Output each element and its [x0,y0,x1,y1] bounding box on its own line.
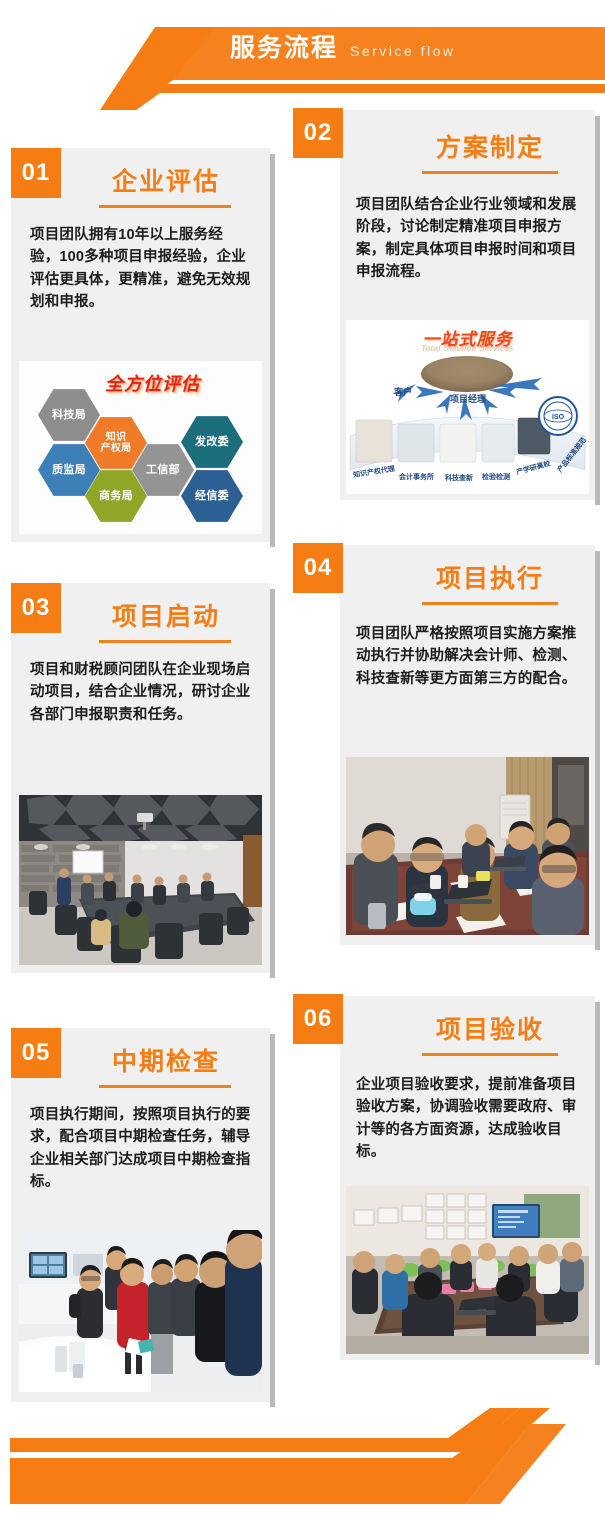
hex-node-label: 知识产权局 [101,432,132,454]
card-05-title: 中期检查 [71,1042,261,1078]
onestop-figure: 一站式服务 Total Solution Services [346,320,589,494]
header-title-group: 服务流程 Service flow [230,36,455,61]
hex-figure-title: 全方位评估 [105,370,200,396]
card-02-number: 02 [304,119,333,147]
card-05-badge: 05 [11,1028,61,1078]
card-04-title-rule [422,602,558,605]
onestop-label-pm: 项目经理 [450,392,486,405]
hex-node-label: 工信部 [146,464,180,476]
header-banner: 服务流程 Service flow [0,0,605,110]
card-03-body: 项目和财税顾问团队在企业现场启动项目，结合企业情况，研讨企业各部门申报职责和任务… [30,659,252,726]
card-01-title-rule [99,205,231,208]
service-flow-page: 服务流程 Service flow 01 企业评估 项目团队拥有10年以上服务经… [0,0,605,1538]
card-04-number: 04 [304,554,333,582]
card-02-badge: 02 [293,108,343,158]
card-01-title: 企业评估 [71,162,261,198]
card-06-title-rule [422,1053,558,1056]
onestop-label-testing: 检验检测 [482,472,510,482]
footer-banner-shape [0,1380,605,1538]
card-01-body: 项目团队拥有10年以上服务经验，100多种项目申报经验，企业评估更具体，更精准，… [30,224,252,314]
hex-node-fagai: 发改委 [181,415,243,469]
header-title-cn: 服务流程 [230,36,338,61]
card-02-body: 项目团队结合企业行业领域和发展阶段，讨论制定精准项目申报方案，制定具体项目申报时… [356,194,580,284]
header-title-en: Service flow [350,44,455,58]
onestop-label-account: 会计事务所 [399,472,434,482]
card-03-title-rule [99,640,231,643]
photo-boardroom-presentation [346,1186,589,1354]
card-01-badge: 01 [11,148,61,198]
card-05[interactable]: 05 中期检查 项目执行期间，按照项目执行的要求，配合项目中期检查任务，辅导企业… [11,1028,270,1402]
hex-node-label: 经信委 [195,490,229,502]
photo-team-working [346,757,589,935]
hex-figure: 全方位评估 科技局 知识产权局 质监局 工信部 商务局 发改委 经信委 [19,361,262,534]
card-04-title: 项目执行 [395,559,585,595]
card-06-title: 项目验收 [395,1010,585,1046]
footer-banner: 全国统一热线： 400-150-1560 [0,1380,605,1538]
card-05-number: 05 [22,1039,51,1067]
photo-conference-room-art [19,795,262,965]
photo-boardroom-presentation-art [346,1186,589,1354]
card-02-title-rule [422,171,558,174]
card-01[interactable]: 01 企业评估 项目团队拥有10年以上服务经验，100多种项目申报经验，企业评估… [11,148,270,542]
card-04[interactable]: 04 项目执行 项目团队严格按照项目实施方案推动执行并协助解决会计师、检测、科技… [340,545,595,945]
photo-conference-room [19,795,262,965]
hex-node-label: 质监局 [52,464,86,476]
card-04-badge: 04 [293,543,343,593]
card-06-badge: 06 [293,994,343,1044]
photo-showroom-visit-art [19,1230,262,1392]
hex-node-label: 发改委 [195,436,229,448]
hex-node-label: 商务局 [99,490,133,502]
hex-node-label: 科技局 [52,409,86,421]
card-05-body: 项目执行期间，按照项目执行的要求，配合项目中期检查任务，辅导企业相关部门达成项目… [30,1104,252,1194]
photo-showroom-visit [19,1230,262,1392]
onestop-label-novelty: 科技查新 [445,473,473,483]
hex-node-jingxin: 经信委 [181,469,243,523]
card-03-badge: 03 [11,583,61,633]
card-01-number: 01 [22,159,51,187]
card-04-body: 项目团队严格按照项目实施方案推动执行并协助解决会计师、检测、科技查新等更方面第三… [356,623,580,690]
card-03-number: 03 [22,594,51,622]
card-06[interactable]: 06 项目验收 企业项目验收要求，提前准备项目验收方案，协调验收需要政府、审计等… [340,996,595,1360]
card-06-body: 企业项目验收要求，提前准备项目验收方案，协调验收需要政府、审计等的各方面资源，达… [356,1074,580,1164]
card-05-title-rule [99,1085,231,1088]
card-03[interactable]: 03 项目启动 项目和财税顾问团队在企业现场启动项目，结合企业情况，研讨企业各部… [11,583,270,973]
onestop-label-kehu: 客户 [394,385,412,398]
card-03-title: 项目启动 [71,597,261,633]
svg-text:ISO: ISO [552,414,565,421]
photo-team-working-art [346,757,589,935]
card-02-title: 方案制定 [395,128,585,164]
card-06-number: 06 [304,1005,333,1033]
card-02[interactable]: 02 方案制定 项目团队结合企业行业领域和发展阶段，讨论制定精准项目申报方案，制… [340,110,595,500]
